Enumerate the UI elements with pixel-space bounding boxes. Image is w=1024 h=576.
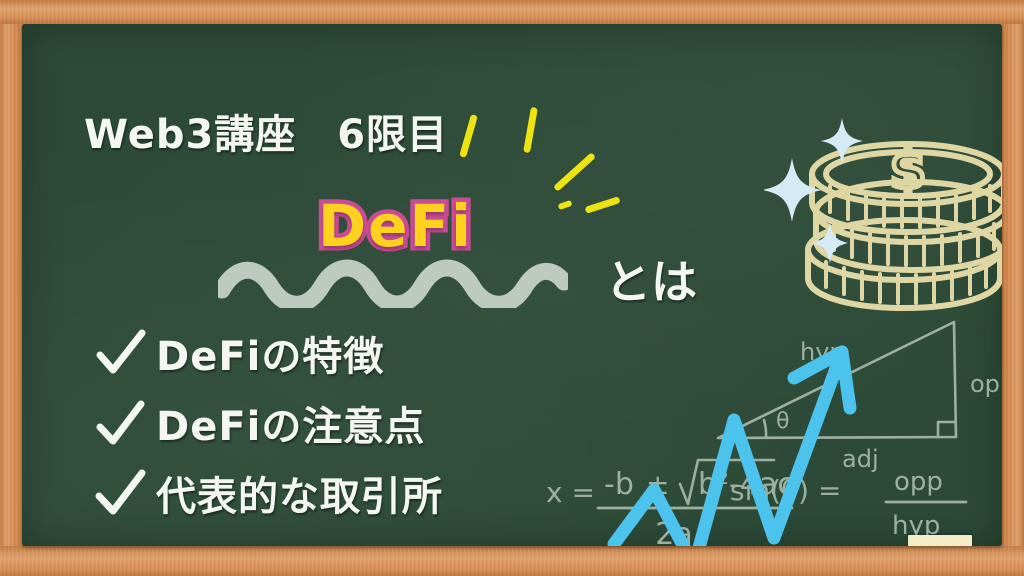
label-adj: adj xyxy=(842,445,879,473)
list-item: DeFiの特徴 xyxy=(94,324,443,382)
check-icon xyxy=(94,329,148,377)
emphasis-stroke-1 xyxy=(459,114,478,158)
check-icon xyxy=(94,399,148,447)
formula-numerator-lead: -b xyxy=(604,467,634,502)
keyword-suffix: とは xyxy=(605,246,697,312)
list-item: DeFiの注意点 xyxy=(94,394,443,452)
emphasis-stroke-2 xyxy=(523,107,538,154)
dollar-symbol: $ xyxy=(890,141,926,201)
thumbnail-canvas: Web3講座 6限目 DeFi とは DeFiの特徴 xyxy=(0,0,1024,576)
list-item: 代表的な取引所 xyxy=(94,464,443,522)
checklist: DeFiの特徴 DeFiの注意点 代表的な取引所 xyxy=(94,324,443,534)
upward-zigzag-arrow xyxy=(614,352,850,546)
math-chalk-doodles: hyp opp adj θ x = -b ± b²-4ac 2a sin(θ) … xyxy=(542,312,1002,546)
chalkboard: Web3講座 6限目 DeFi とは DeFiの特徴 xyxy=(22,24,1002,546)
chalk-stick xyxy=(908,535,972,546)
coin-stack-illustration: $ xyxy=(764,82,1002,318)
wavy-underline xyxy=(218,256,568,308)
trig-numerator: opp xyxy=(894,467,943,497)
checklist-item-label: DeFiの注意点 xyxy=(156,394,425,452)
check-icon xyxy=(94,469,148,517)
checklist-item-label: 代表的な取引所 xyxy=(156,464,443,522)
checklist-item-label: DeFiの特徴 xyxy=(156,324,384,382)
emphasis-stroke-5 xyxy=(557,200,572,210)
label-theta: θ xyxy=(776,409,789,434)
emphasis-stroke-4 xyxy=(584,196,620,214)
page-title: Web3講座 6限目 xyxy=(84,102,448,160)
frame-top-rail xyxy=(0,0,1024,24)
emphasis-stroke-3 xyxy=(553,152,596,192)
frame-bottom-rail xyxy=(0,546,1024,576)
keyword-defi: DeFi xyxy=(318,192,473,260)
formula-lhs: x = xyxy=(546,476,595,509)
label-opp: opp xyxy=(970,370,1002,398)
